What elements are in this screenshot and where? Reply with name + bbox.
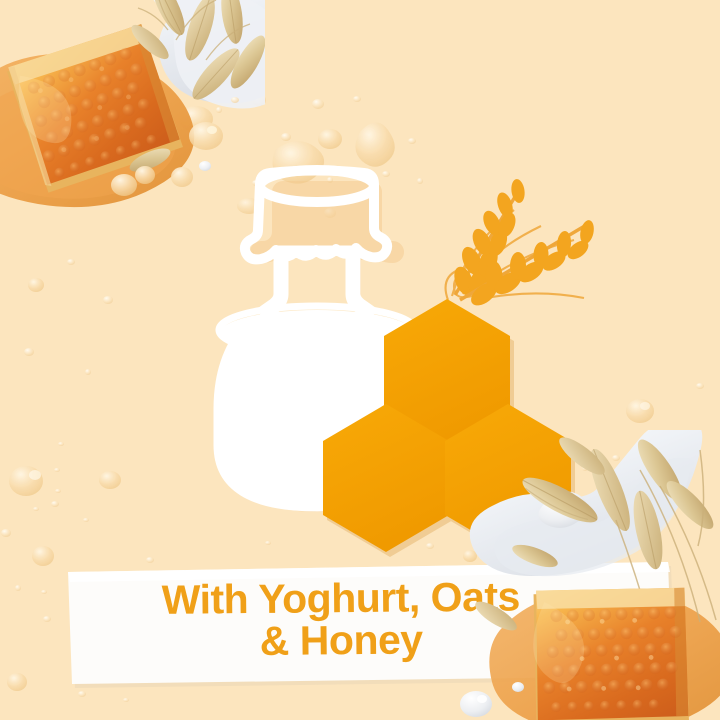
photo-bottom-right — [0, 0, 720, 720]
product-banner-image: With Yoghurt, Oats & Honey — [0, 0, 720, 720]
